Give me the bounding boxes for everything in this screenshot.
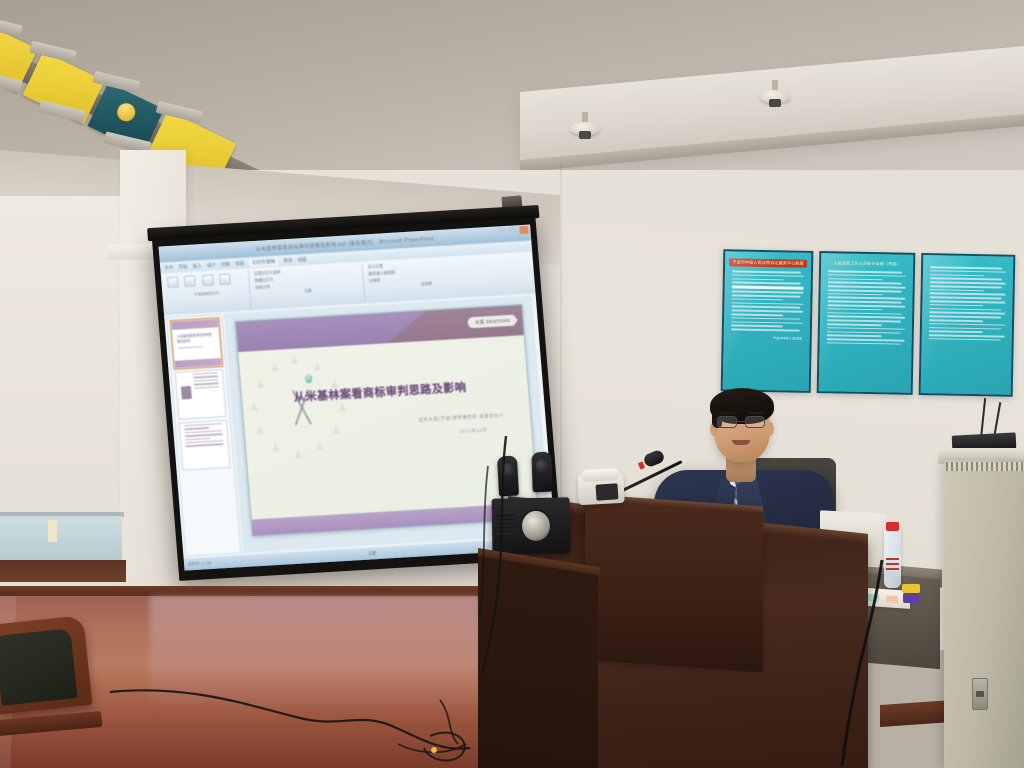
custom-show-icon[interactable] — [219, 273, 231, 285]
theme-label: 主题 — [368, 550, 376, 556]
rear-alcove — [0, 516, 122, 560]
thumb-line — [185, 433, 223, 437]
bottle-cap — [886, 522, 899, 531]
tab-transitions[interactable]: 切换 — [221, 261, 231, 268]
slide-thumbnail-1[interactable]: 从米基林案看商标审判思路及影响 — [171, 318, 223, 369]
board-glare — [817, 251, 880, 395]
thumb-line — [186, 443, 224, 447]
slide-thumbnail-3[interactable] — [179, 420, 231, 471]
thumb-line — [185, 437, 210, 440]
from-current-slide-icon[interactable] — [184, 275, 196, 287]
alcove-baseboard — [0, 560, 126, 582]
thumb-portrait-icon — [181, 386, 192, 400]
thumb-line — [194, 386, 219, 389]
tab-design[interactable]: 设计 — [207, 262, 217, 269]
alcove-notice — [48, 520, 57, 542]
ribbon-group-label-1: 开始放映幻灯片 — [167, 289, 246, 299]
tab-file[interactable]: 文件 — [164, 264, 174, 271]
restore-icon[interactable] — [508, 226, 518, 235]
tab-home[interactable]: 开始 — [178, 263, 188, 270]
ribbon-group-start-show[interactable]: 开始放映幻灯片 — [163, 270, 252, 313]
bulletin-board-left[interactable]: 宁波市中级人民法院诉讼服务中心制度 宁波市中级人民法院 — [721, 249, 814, 393]
window-controls[interactable] — [497, 226, 529, 236]
vertical-cable-run — [452, 436, 572, 676]
dentons-logo-text: 大成 DENTONS — [475, 317, 511, 325]
ceiling-speaker-icon-1 — [570, 122, 600, 135]
cabinet-vent-grille — [946, 462, 1024, 471]
thumb-line — [178, 346, 203, 349]
board-glare — [721, 249, 781, 393]
thumb-header-band — [172, 319, 219, 330]
minimize-icon[interactable] — [497, 227, 507, 236]
ribbon-group-setup[interactable]: 设置幻灯片放映 隐藏幻灯片 排练计时 设置 — [251, 264, 366, 309]
photo-scene: 宁波市中级人民法院诉讼服务中心制度 宁波市中级人民法院 人民法院工作人员处分条例… — [0, 0, 1024, 768]
slide-gem-icon — [304, 374, 313, 383]
tab-review[interactable]: 审阅 — [283, 257, 293, 264]
slide-thumbnail-2[interactable] — [175, 369, 227, 420]
slide-watermark-graphic — [247, 349, 363, 463]
thumb-line — [194, 382, 219, 385]
eyeglasses-icon — [716, 416, 768, 428]
tab-view[interactable]: 视图 — [297, 256, 307, 263]
thumb-line — [193, 376, 218, 379]
microphone-cable — [812, 560, 952, 768]
lectern-front-panel — [585, 500, 763, 672]
broadcast-icon[interactable] — [202, 274, 214, 286]
from-beginning-icon[interactable] — [167, 277, 179, 289]
thumb-footer-band — [175, 358, 221, 368]
tab-insert[interactable]: 插入 — [192, 263, 202, 270]
slide-indicator: 幻灯片 1 / 28 — [188, 560, 212, 567]
slide-header-band — [236, 305, 524, 352]
ceiling-speaker-icon-2 — [760, 90, 790, 103]
cabinet-lock-icon[interactable] — [972, 678, 988, 710]
ribbon-group-monitors[interactable]: 显示位置 使用演示者视图 分辨率 监视器 — [365, 256, 488, 301]
person-mouth — [732, 440, 750, 445]
metal-cabinet[interactable] — [944, 460, 1024, 768]
thumb-title-text: 从米基林案看商标审判思路及影响 — [177, 331, 216, 343]
bulletin-board-right[interactable] — [919, 253, 1016, 397]
slide-date-line: 2021年10月 — [459, 427, 488, 435]
slide-presenter-line: 北京大成(宁波)律师事务所 高级合伙人 — [418, 412, 504, 423]
thumb-line — [184, 423, 222, 427]
tab-animations[interactable]: 动画 — [235, 260, 245, 267]
thumb-line — [184, 427, 209, 430]
floor-cable-run — [0, 640, 520, 768]
tab-slideshow[interactable]: 幻灯片放映 — [249, 257, 279, 267]
bulletin-board-group: 宁波市中级人民法院诉讼服务中心制度 宁波市中级人民法院 人民法院工作人员处分条例… — [721, 249, 1016, 397]
telephone-base-unit — [595, 483, 618, 500]
gold-seal-icon — [114, 100, 138, 124]
bulletin-board-center[interactable]: 人民法院工作人员处分条例（节选） — [817, 251, 916, 395]
thumb-line — [193, 372, 218, 375]
thumb-line — [193, 379, 218, 382]
close-icon[interactable] — [519, 226, 529, 235]
